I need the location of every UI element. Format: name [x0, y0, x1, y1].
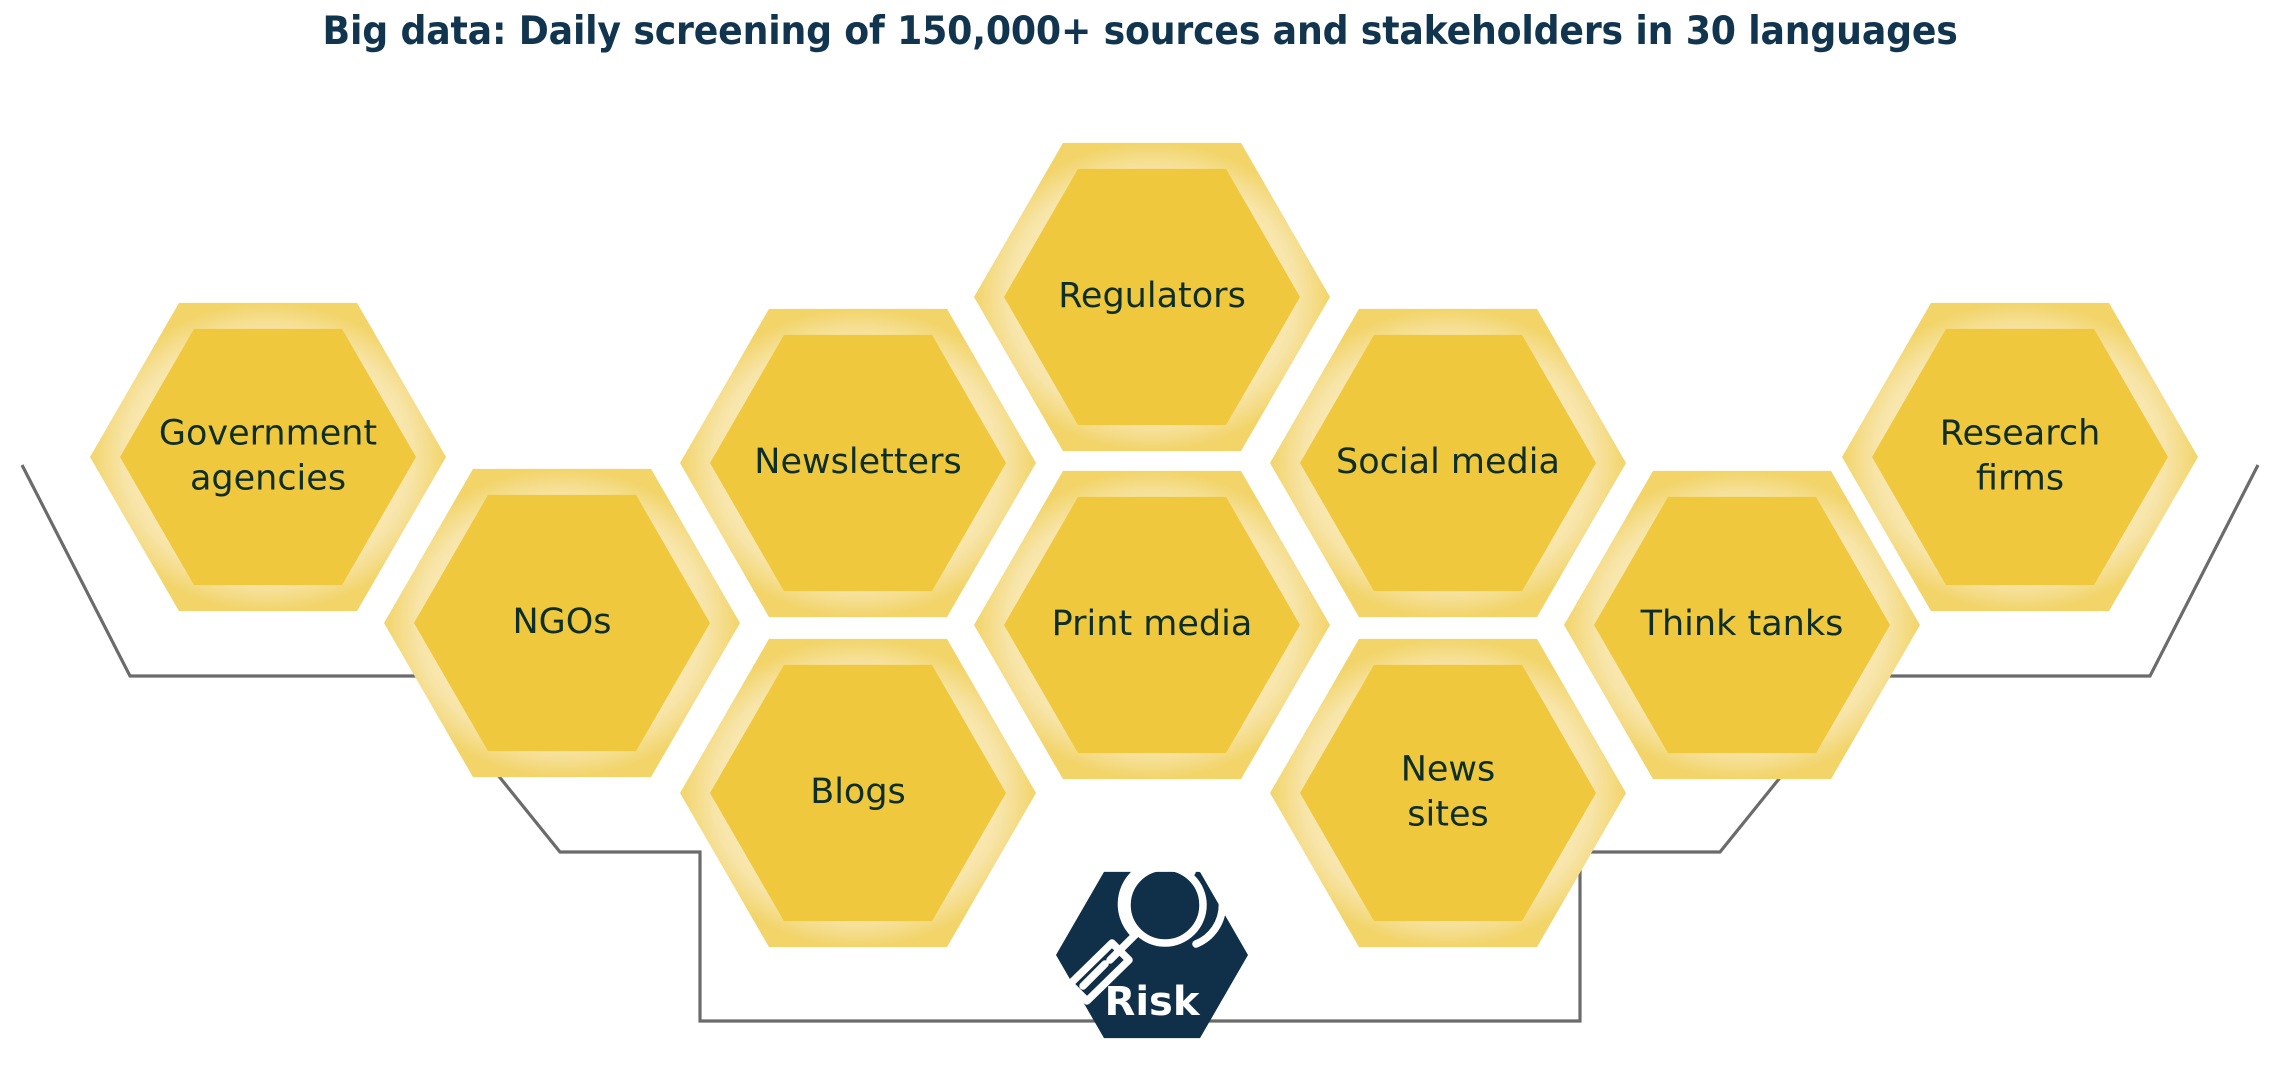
risk-label: Risk [1105, 979, 1201, 1025]
hex-label-print-media: Print media [1052, 604, 1253, 644]
hex-label-line: Blogs [810, 772, 906, 812]
hex-label-social-media: Social media [1336, 442, 1560, 482]
hex-label-line: Print media [1052, 604, 1253, 644]
hex-label-blogs: Blogs [810, 772, 906, 812]
hex-label-line: agencies [190, 459, 346, 499]
hex-label-line: Government [159, 414, 377, 454]
honeycomb-diagram: GovernmentagenciesNGOsNewslettersRegulat… [0, 0, 2280, 1078]
hex-label-line: Newsletters [754, 442, 961, 482]
hex-label-think-tanks: Think tanks [1640, 604, 1844, 644]
hex-label-line: firms [1976, 459, 2064, 499]
hex-label-line: sites [1407, 795, 1488, 835]
hex-label-regulators: Regulators [1058, 276, 1246, 316]
hex-label-line: Research [1940, 414, 2101, 454]
hex-label-line: NGOs [512, 602, 611, 642]
hex-label-ngos: NGOs [512, 602, 611, 642]
hex-label-line: Regulators [1058, 276, 1246, 316]
hex-label-line: Think tanks [1640, 604, 1844, 644]
hex-label-newsletters: Newsletters [754, 442, 961, 482]
hex-label-line: Social media [1336, 442, 1560, 482]
center-node-group[interactable]: Risk [1056, 863, 1248, 1038]
infographic-canvas: Big data: Daily screening of 150,000+ so… [0, 0, 2280, 1078]
hex-label-line: News [1401, 750, 1496, 790]
